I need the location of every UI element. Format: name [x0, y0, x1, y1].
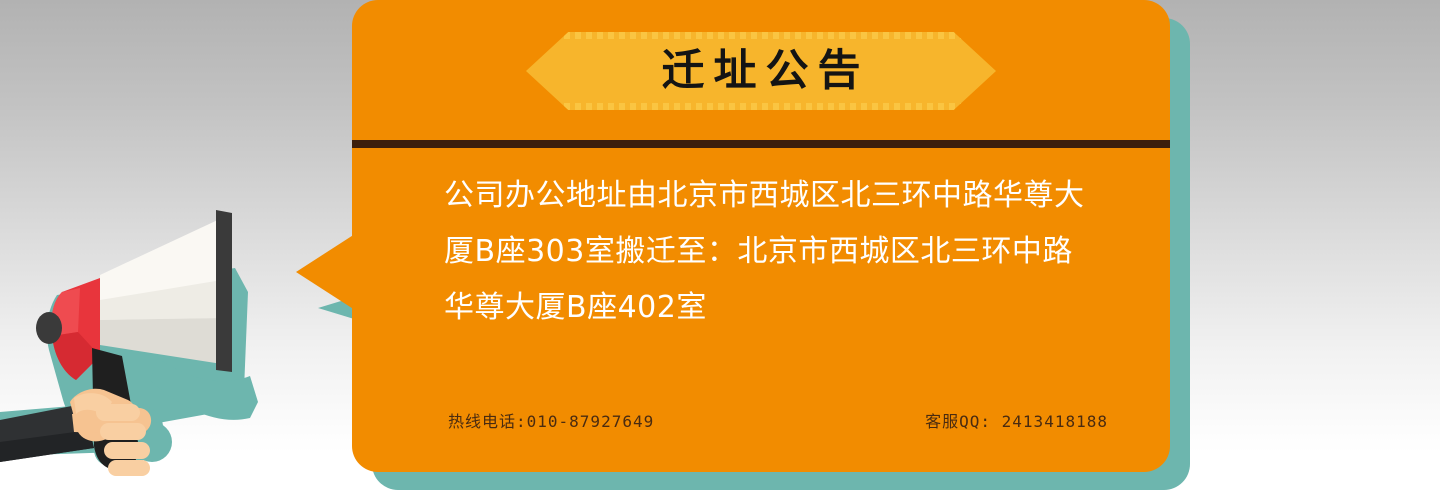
announcement-banner: 迁址公告 公司办公地址由北京市西城区北三环中路华尊大厦B座303室搬迁至：北京市… [0, 0, 1440, 492]
finger-4 [108, 460, 150, 476]
ribbon-texture-top [526, 32, 996, 39]
megaphone-knob [36, 312, 62, 344]
page-title: 迁址公告 [653, 50, 870, 93]
announcement-card: 迁址公告 公司办公地址由北京市西城区北三环中路华尊大厦B座303室搬迁至：北京市… [352, 0, 1170, 472]
title-ribbon-wrap: 迁址公告 [352, 30, 1170, 112]
contact-footer: 热线电话:010-87927649 客服QQ: 2413418188 [448, 408, 1108, 432]
customer-service-qq: 客服QQ: 2413418188 [925, 408, 1108, 432]
hotline-phone: 热线电话:010-87927649 [448, 408, 654, 432]
announcement-body-text: 公司办公地址由北京市西城区北三环中路华尊大厦B座303室搬迁至：北京市西城区北三… [444, 168, 1092, 336]
ribbon-texture-bottom [526, 103, 996, 110]
title-divider [352, 140, 1170, 148]
finger-3 [104, 442, 150, 459]
megaphone-illustration [0, 180, 320, 492]
title-ribbon: 迁址公告 [526, 32, 996, 110]
finger-2 [100, 423, 146, 440]
megaphone-rim [216, 210, 232, 372]
megaphone-cone [100, 218, 222, 364]
